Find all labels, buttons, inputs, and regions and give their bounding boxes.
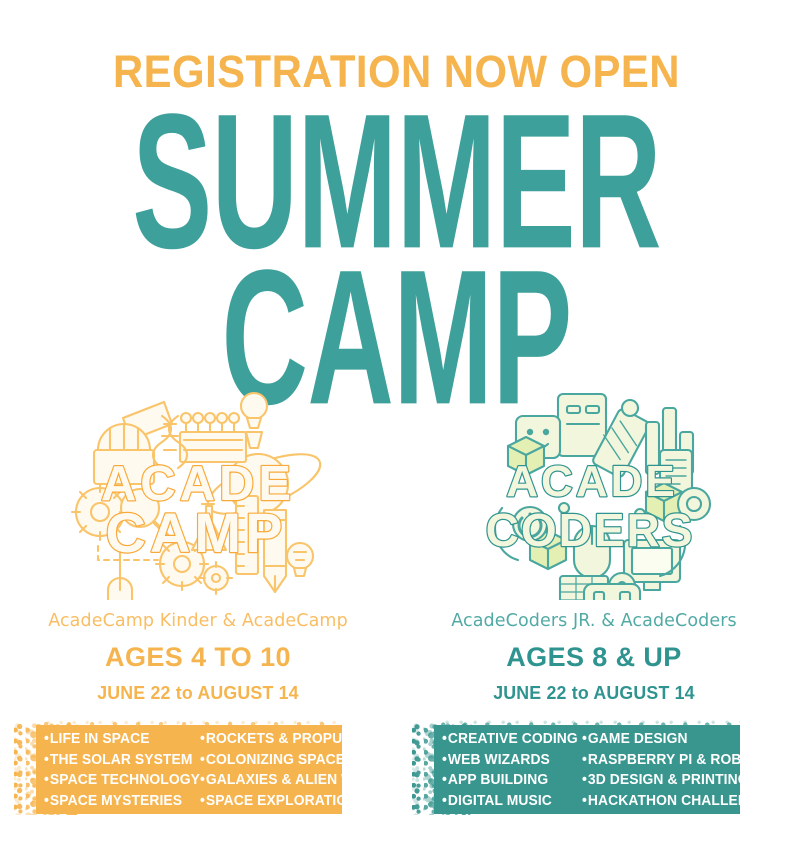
topic-item: •3D DESIGN & PRINTING	[582, 772, 776, 788]
topic-label: GAME DESIGN	[588, 731, 688, 747]
acadecoders-logo-icon: ACADE CODERS	[464, 388, 724, 600]
bullet-icon: •	[442, 793, 447, 809]
topic-item: •ROCKETS & PROPULSION	[200, 731, 382, 747]
topics-list-acadecamp: •LIFE IN SPACE •THE SOLAR SYSTEM •SPACE …	[14, 719, 382, 819]
bullet-icon: •	[442, 731, 447, 747]
program-ages-acadecoders: AGES 8 & UP	[506, 642, 681, 673]
topics-banner-acadecoders: •CREATIVE CODING •WEB WIZARDS •APP BUILD…	[412, 719, 780, 819]
topic-item: •CREATIVE CODING	[442, 731, 578, 747]
bullet-icon: •	[44, 731, 49, 747]
program-dates-acadecamp: JUNE 22 to AUGUST 14	[97, 682, 299, 704]
acadecamp-logo: ACADE CAMP	[63, 386, 333, 601]
topic-item: •LIFE IN SPACE	[44, 731, 195, 747]
topic-label: HACKATHON CHALLENGE	[588, 793, 768, 809]
bullet-icon: •	[44, 772, 49, 788]
topics-banner-acadecamp: •LIFE IN SPACE •THE SOLAR SYSTEM •SPACE …	[14, 719, 382, 819]
topics-column-1: •CREATIVE CODING •WEB WIZARDS •APP BUILD…	[442, 731, 582, 809]
page-title: SUMMER CAMP	[0, 104, 793, 380]
topic-item: •SPACE TECHNOLOGY	[44, 772, 195, 788]
svg-text:CODERS: CODERS	[486, 504, 695, 556]
topic-label: GALAXIES & ALIEN WORLDS	[206, 772, 382, 788]
acadecamp-logo-icon: ACADE CAMP	[68, 388, 328, 600]
program-columns: ACADE CAMP AcadeCamp Kinder & AcadeCamp …	[0, 386, 793, 704]
topic-label: DIGITAL MUSIC	[448, 793, 552, 809]
bullet-icon: •	[200, 731, 205, 747]
bullet-icon: •	[442, 752, 447, 768]
topic-item: •APP BUILDING	[442, 772, 578, 788]
topic-item: •SPACE MYSTERIES	[44, 793, 195, 809]
bullet-icon: •	[44, 793, 49, 809]
topics-list-acadecoders: •CREATIVE CODING •WEB WIZARDS •APP BUILD…	[412, 719, 780, 819]
program-card-acadecoders: ACADE CODERS AcadeCoders JR. & AcadeCode…	[396, 386, 792, 704]
acadecoders-logo: ACADE CODERS	[459, 386, 729, 601]
topic-item: •THE SOLAR SYSTEM	[44, 752, 195, 768]
program-name-acadecoders: AcadeCoders JR. & AcadeCoders	[451, 611, 737, 631]
program-card-acadecamp: ACADE CAMP AcadeCamp Kinder & AcadeCamp …	[0, 386, 396, 704]
bullet-icon: •	[582, 793, 587, 809]
topic-item: •SPACE EXPLORATION	[200, 793, 382, 809]
topic-label: RASPBERRY PI & ROBOTICS	[588, 752, 780, 768]
bullet-icon: •	[442, 772, 447, 788]
topic-label: CREATIVE CODING	[448, 731, 578, 747]
topic-label: SPACE MYSTERIES	[50, 793, 182, 809]
bullet-icon: •	[44, 752, 49, 768]
bullet-icon: •	[200, 793, 205, 809]
svg-text:CAMP: CAMP	[106, 501, 287, 564]
topic-item: •GAME DESIGN	[582, 731, 776, 747]
topic-label: ROCKETS & PROPULSION	[206, 731, 382, 747]
topic-label: SPACE EXPLORATION	[206, 793, 357, 809]
topic-item: •WEB WIZARDS	[442, 752, 578, 768]
topic-label: APP BUILDING	[448, 772, 548, 788]
topic-item: •RASPBERRY PI & ROBOTICS	[582, 752, 776, 768]
topic-label: SPACE TECHNOLOGY	[50, 772, 200, 788]
topic-item: •GALAXIES & ALIEN WORLDS	[200, 772, 382, 788]
bullet-icon: •	[582, 752, 587, 768]
topic-item: •HACKATHON CHALLENGE	[582, 793, 776, 809]
topics-column-2: •ROCKETS & PROPULSION •COLONIZING SPACE …	[200, 731, 382, 809]
topic-label: THE SOLAR SYSTEM	[50, 752, 193, 768]
svg-text:ACADE: ACADE	[506, 457, 677, 506]
program-ages-acadecamp: AGES 4 TO 10	[105, 642, 291, 673]
bullet-icon: •	[200, 772, 205, 788]
topics-column-1: •LIFE IN SPACE •THE SOLAR SYSTEM •SPACE …	[44, 731, 200, 809]
topic-label: 3D DESIGN & PRINTING	[588, 772, 749, 788]
summer-camp-poster: REGISTRATION NOW OPEN SUMMER CAMP	[0, 0, 793, 848]
bullet-icon: •	[582, 731, 587, 747]
bullet-icon: •	[582, 772, 587, 788]
topic-item: •COLONIZING SPACE	[200, 752, 382, 768]
topic-label: LIFE IN SPACE	[50, 731, 150, 747]
topic-item: •DIGITAL MUSIC	[442, 793, 578, 809]
topic-label: COLONIZING SPACE	[206, 752, 345, 768]
bullet-icon: •	[200, 752, 205, 768]
program-dates-acadecoders: JUNE 22 to AUGUST 14	[493, 682, 695, 704]
topic-label: WEB WIZARDS	[448, 752, 550, 768]
program-name-acadecamp: AcadeCamp Kinder & AcadeCamp	[48, 611, 348, 631]
topics-column-2: •GAME DESIGN •RASPBERRY PI & ROBOTICS •3…	[582, 731, 780, 809]
